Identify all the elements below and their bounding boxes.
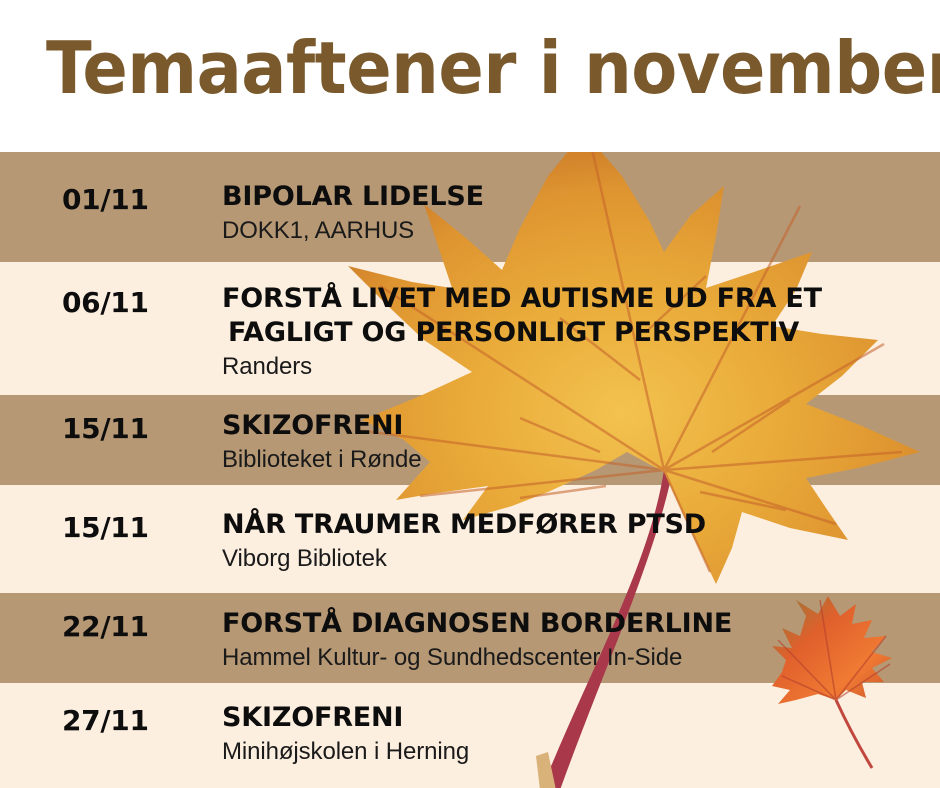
event-date: 15/11 [62, 413, 149, 445]
event-title-line: FAGLIGT OG PERSONLIGT PERSPEKTIV [222, 316, 930, 350]
list-item[interactable]: 22/11 FORSTÅ DIAGNOSEN BORDERLINE Hammel… [0, 593, 940, 683]
event-title-line: SKIZOFRENI [222, 409, 930, 443]
event-date: 01/11 [62, 184, 149, 216]
event-date: 27/11 [62, 705, 149, 737]
list-item[interactable]: 01/11 BIPOLAR LIDELSE DOKK1, AARHUS [0, 152, 940, 262]
event-title-line: SKIZOFRENI [222, 701, 930, 735]
list-item[interactable]: 06/11 FORSTÅ LIVET MED AUTISME UD FRA ET… [0, 262, 940, 395]
event-place: DOKK1, AARHUS [222, 216, 930, 246]
list-item[interactable]: 15/11 NÅR TRAUMER MEDFØRER PTSD Viborg B… [0, 485, 940, 593]
event-title-line: NÅR TRAUMER MEDFØRER PTSD [222, 508, 930, 542]
event-body: SKIZOFRENI Minihøjskolen i Herning [222, 701, 930, 767]
event-place: Randers [222, 352, 930, 382]
list-item[interactable]: 27/11 SKIZOFRENI Minihøjskolen i Herning [0, 683, 940, 788]
event-date: 06/11 [62, 287, 149, 319]
event-place: Minihøjskolen i Herning [222, 737, 930, 767]
page-title: Temaaftener i november [46, 26, 940, 110]
event-body: FORSTÅ DIAGNOSEN BORDERLINE Hammel Kultu… [222, 607, 930, 673]
event-body: SKIZOFRENI Biblioteket i Rønde [222, 409, 930, 475]
event-date: 15/11 [62, 512, 149, 544]
event-title-line: FORSTÅ LIVET MED AUTISME UD FRA ET [222, 282, 930, 316]
event-place: Viborg Bibliotek [222, 544, 930, 574]
event-title-line: BIPOLAR LIDELSE [222, 180, 930, 214]
event-place: Biblioteket i Rønde [222, 445, 930, 475]
event-body: NÅR TRAUMER MEDFØRER PTSD Viborg Bibliot… [222, 508, 930, 574]
event-body: FORSTÅ LIVET MED AUTISME UD FRA ET FAGLI… [222, 282, 930, 382]
title-bar: Temaaftener i november [0, 0, 940, 152]
event-body: BIPOLAR LIDELSE DOKK1, AARHUS [222, 180, 930, 246]
event-place: Hammel Kultur- og Sundhedscenter In-Side [222, 643, 930, 673]
event-date: 22/11 [62, 611, 149, 643]
list-item[interactable]: 15/11 SKIZOFRENI Biblioteket i Rønde [0, 395, 940, 485]
poster-root: Temaaftener i november 01/11 BIPOLAR LID… [0, 0, 940, 788]
event-title-line: FORSTÅ DIAGNOSEN BORDERLINE [222, 607, 930, 641]
